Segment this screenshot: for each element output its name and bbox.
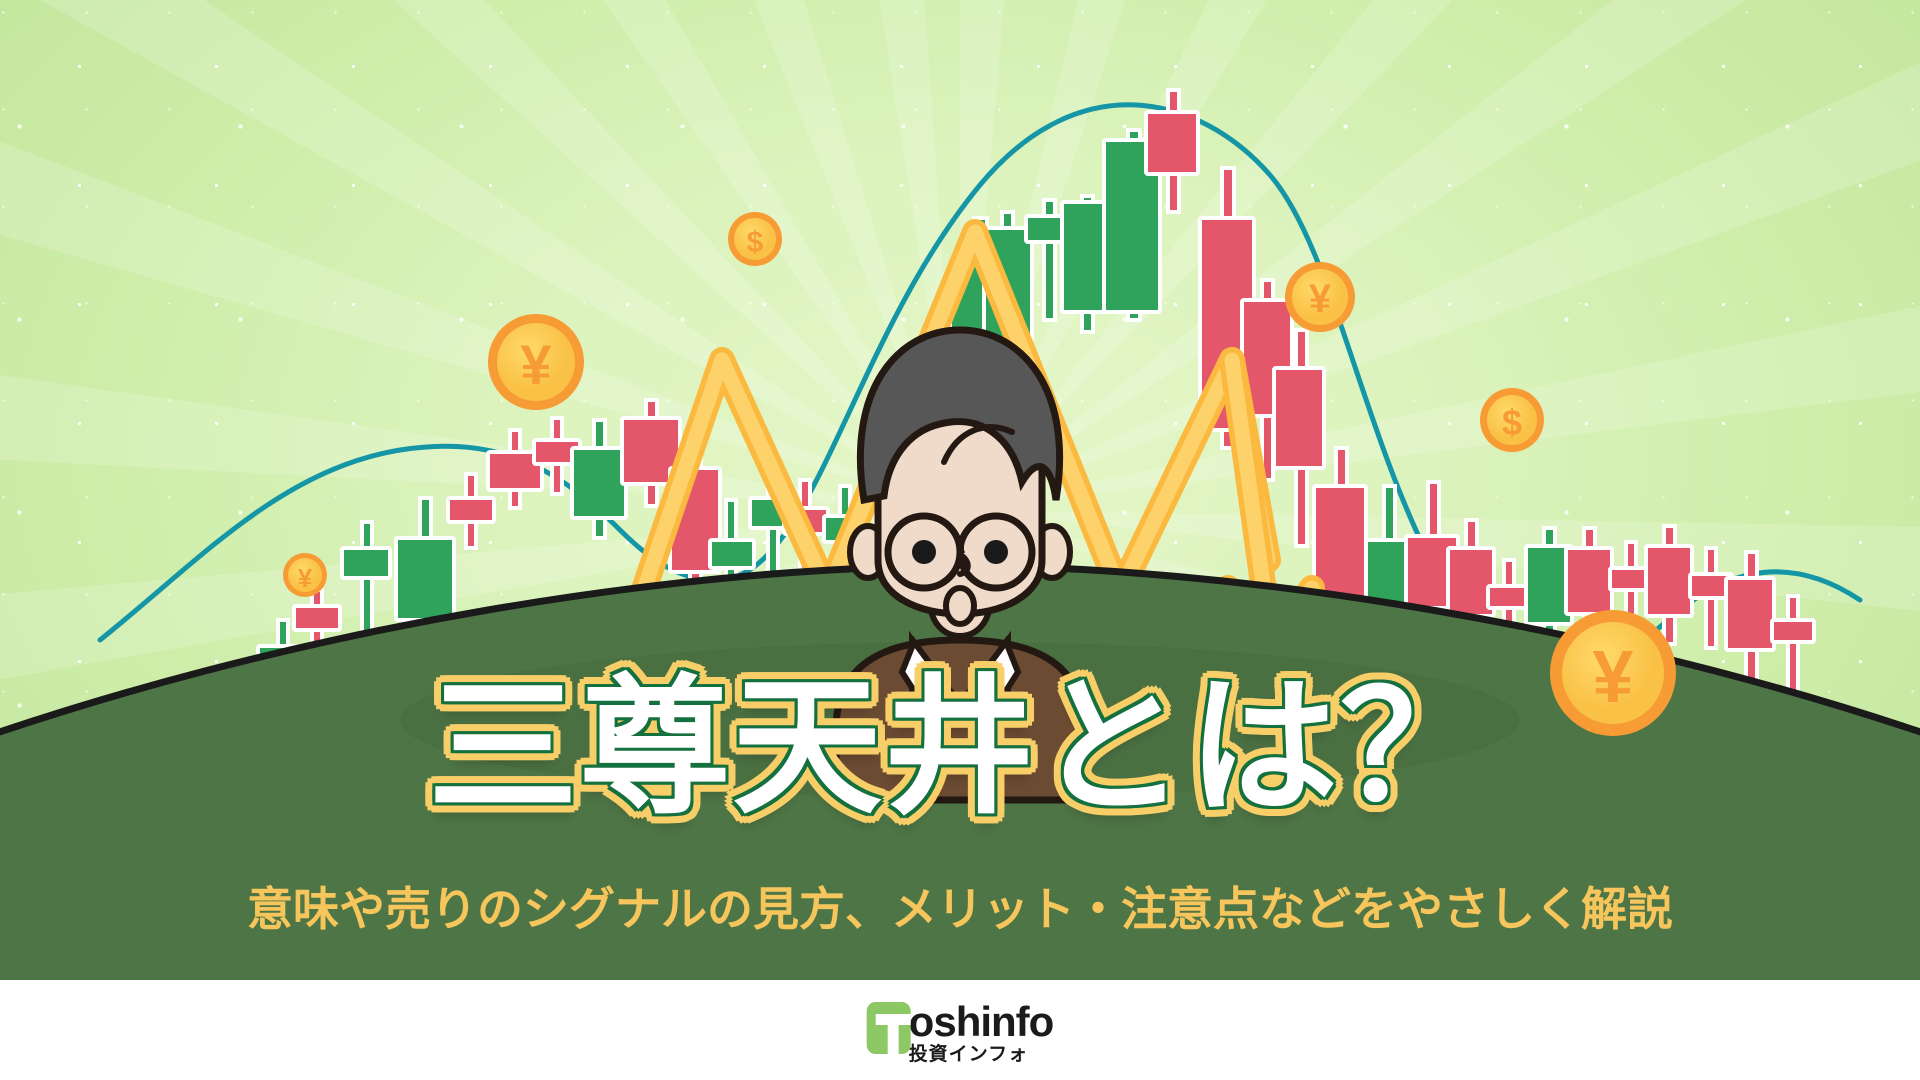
logo-text: oshinfo 投資インフォ: [909, 1002, 1054, 1066]
logo-mark-icon: [867, 1002, 911, 1054]
logo-wordmark: oshinfo: [909, 1002, 1054, 1042]
site-logo[interactable]: oshinfo 投資インフォ: [867, 1002, 1054, 1066]
page-subtitle: 意味や売りのシグナルの見方、メリット・注意点などをやさしく解説: [0, 873, 1920, 939]
logo-japanese-name: 投資インフォ: [909, 1044, 1054, 1066]
hero-text-block: 三尊天井とは？ 意味や売りのシグナルの見方、メリット・注意点などをやさしく解説: [0, 0, 1920, 980]
banner-canvas: ¥ $ ¥ $ ¥: [0, 0, 1920, 1080]
page-title: 三尊天井とは？: [0, 672, 1920, 822]
